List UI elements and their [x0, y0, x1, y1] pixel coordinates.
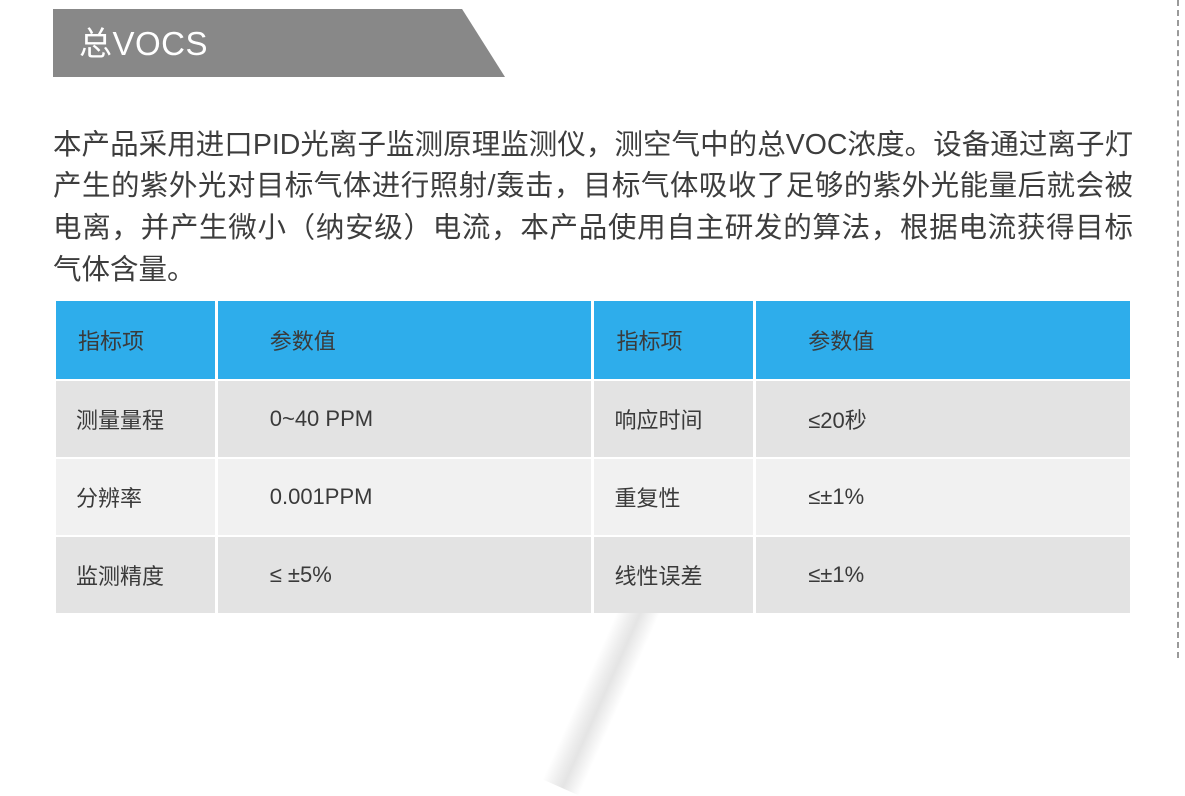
table-row: 监测精度 ≤ ±5% 线性误差 ≤±1%	[56, 537, 1130, 613]
page-title: 总VOCS	[79, 27, 208, 60]
cell-indicator-left: 分辨率	[56, 459, 215, 535]
table-row: 测量量程 0~40 PPM 响应时间 ≤20秒	[56, 381, 1130, 457]
cell-value-right: ≤±1%	[756, 459, 1130, 535]
table-header-cell-value-right: 参数值	[756, 301, 1130, 379]
cell-indicator-right: 响应时间	[594, 381, 753, 457]
table-header-row: 指标项 参数值 指标项 参数值	[56, 301, 1130, 379]
spec-table: 指标项 参数值 指标项 参数值 测量量程 0~40 PPM 响应时间	[53, 299, 1133, 615]
table-header-cell-value-left: 参数值	[218, 301, 592, 379]
table-header-cell-indicator-left: 指标项	[56, 301, 215, 379]
table-header-cell-indicator-right: 指标项	[594, 301, 753, 379]
cell-value-right: ≤±1%	[756, 537, 1130, 613]
right-dashed-guide-line	[1177, 0, 1179, 658]
intro-paragraph: 本产品采用进口PID光离子监测原理监测仪，测空气中的总VOC浓度。设备通过离子灯…	[53, 125, 1133, 293]
cell-indicator-right: 线性误差	[594, 537, 753, 613]
table-row: 分辨率 0.001PPM 重复性 ≤±1%	[56, 459, 1130, 535]
cell-indicator-left: 监测精度	[56, 537, 215, 613]
cell-value-right: ≤20秒	[756, 381, 1130, 457]
cell-indicator-right: 重复性	[594, 459, 753, 535]
cell-value-left: 0~40 PPM	[218, 381, 592, 457]
cell-indicator-left: 测量量程	[56, 381, 215, 457]
cell-value-left: ≤ ±5%	[218, 537, 592, 613]
cell-value-left: 0.001PPM	[218, 459, 592, 535]
section-banner: 总VOCS	[53, 9, 505, 77]
